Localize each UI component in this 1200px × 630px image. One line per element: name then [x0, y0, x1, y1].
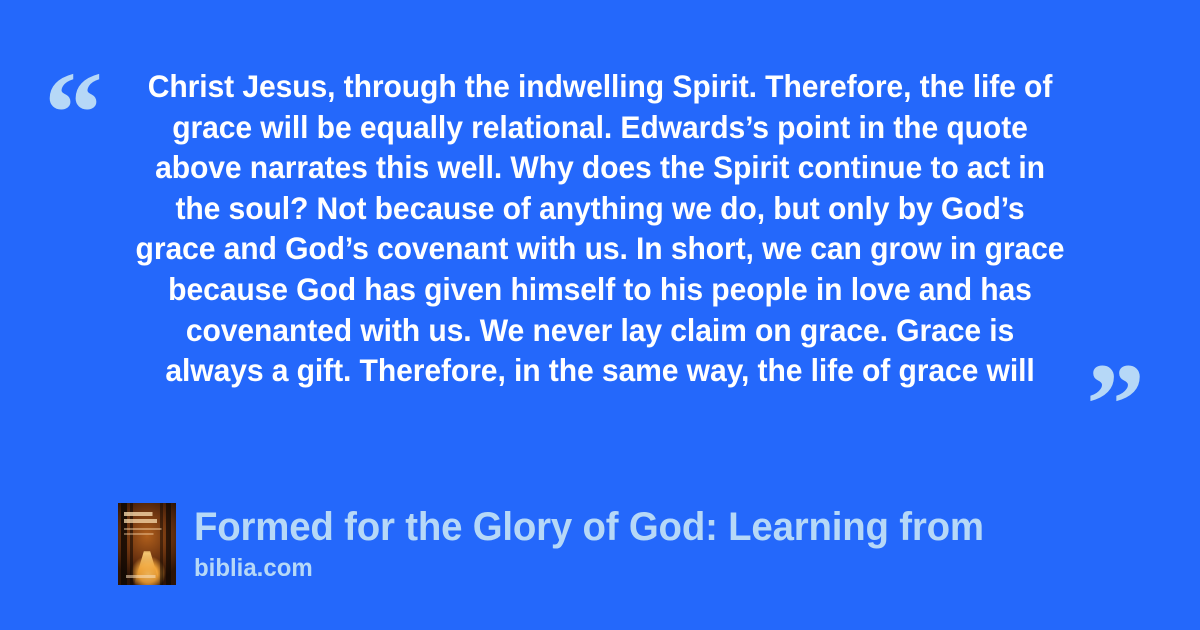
source-link[interactable]: biblia.com — [194, 553, 984, 583]
cover-title-line — [124, 519, 170, 523]
quote-text: Christ Jesus, through the indwelling Spi… — [130, 66, 1070, 391]
footer: Formed for the Glory of God: Learning fr… — [118, 503, 1138, 595]
cover-subtitle-line — [124, 528, 168, 530]
quote-card: “ Christ Jesus, through the indwelling S… — [0, 0, 1200, 630]
quote-block: “ Christ Jesus, through the indwelling S… — [0, 46, 1200, 416]
opening-quote-icon: “ — [44, 54, 103, 172]
footer-text-group: Formed for the Glory of God: Learning fr… — [194, 503, 1017, 583]
book-title[interactable]: Formed for the Glory of God: Learning fr… — [194, 504, 984, 551]
cover-author-line — [126, 575, 168, 578]
book-cover-thumbnail[interactable] — [118, 503, 176, 585]
cover-subtitle-line — [124, 533, 162, 535]
cover-title-line — [124, 512, 170, 516]
closing-quote-icon: ” — [1086, 346, 1145, 464]
